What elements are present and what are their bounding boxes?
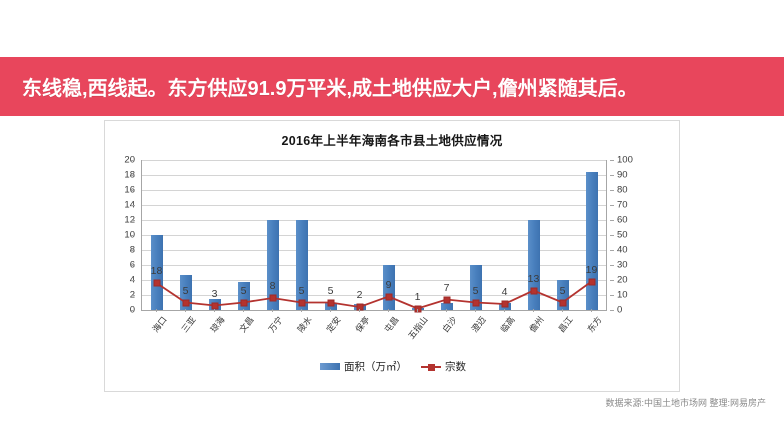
y-axis-right-tickmark: [610, 190, 614, 191]
x-axis-tickmark: [156, 309, 157, 312]
y-axis-right-tickmark: [610, 235, 614, 236]
x-axis-label: 昌江: [555, 314, 575, 335]
x-axis-tickmark: [359, 309, 360, 312]
x-axis-tickmark: [185, 309, 186, 312]
y-axis-left: 02468101214161820: [105, 160, 135, 310]
headline-banner: 东线稳,西线起。东方供应91.9万平米,成土地供应大户,儋州紧随其后。: [0, 57, 784, 116]
data-label: 2: [357, 289, 363, 301]
data-label: 13: [528, 273, 540, 285]
y-axis-right-tickmark: [610, 160, 614, 161]
plot-area: 02468101214161820 0102030405060708090100…: [105, 154, 681, 354]
legend-bar-swatch-icon: [320, 363, 340, 370]
y-axis-left-tickmark: [131, 175, 135, 176]
line-marker: [443, 296, 450, 303]
x-axis-label: 东方: [584, 314, 604, 335]
legend-item-count: 宗数: [421, 359, 466, 374]
line-marker: [298, 299, 305, 306]
y-axis-left-tickmark: [131, 220, 135, 221]
y-axis-right-tickmark: [610, 265, 614, 266]
line-marker: [385, 293, 392, 300]
data-label: 5: [560, 285, 566, 297]
x-axis-tickmark: [243, 309, 244, 312]
line-marker: [559, 299, 566, 306]
legend-label-area: 面积（万㎡）: [344, 359, 407, 374]
y-axis-left-tickmark: [131, 265, 135, 266]
line-marker: [501, 301, 508, 308]
y-axis-right-tickmark: [610, 310, 614, 311]
x-axis-label: 保亭: [352, 314, 372, 335]
x-axis-tickmark: [446, 309, 447, 312]
y-axis-right-tickmark: [610, 205, 614, 206]
line-marker: [182, 299, 189, 306]
x-axis-tickmark: [301, 309, 302, 312]
data-label: 9: [386, 279, 392, 291]
chart-title: 2016年上半年海南各市县土地供应情况: [105, 121, 679, 149]
x-axis-tickmark: [533, 309, 534, 312]
legend-label-count: 宗数: [445, 359, 466, 374]
x-axis-label: 澄迈: [468, 314, 488, 335]
chart-card: 2016年上半年海南各市县土地供应情况 02468101214161820 01…: [104, 120, 680, 392]
y-axis-left-tickmark: [131, 250, 135, 251]
x-axis-tickmark: [591, 309, 592, 312]
data-label: 5: [473, 285, 479, 297]
data-label: 5: [328, 285, 334, 297]
line-marker: [530, 287, 537, 294]
line-marker: [588, 278, 595, 285]
y-axis-right-tickmark: [610, 280, 614, 281]
y-axis-right-tickmark: [610, 295, 614, 296]
line-marker: [240, 299, 247, 306]
x-axis-label: 屯昌: [381, 314, 401, 335]
x-axis-label: 白沙: [439, 314, 459, 335]
x-axis-tickmark: [272, 309, 273, 312]
x-axis-label: 五指山: [405, 314, 430, 341]
data-label: 4: [502, 286, 508, 298]
y-axis-right-tickmark: [610, 175, 614, 176]
x-axis-label: 万宁: [265, 314, 285, 335]
x-axis-label: 临高: [497, 314, 517, 335]
plot-canvas: 1853585529175413519: [141, 160, 607, 311]
x-axis-tickmark: [504, 309, 505, 312]
source-note: 数据来源:中国土地市场网 整理:网易房产: [605, 396, 766, 409]
x-axis-tickmark: [388, 309, 389, 312]
headline-text: 东线稳,西线起。东方供应91.9万平米,成土地供应大户,儋州紧随其后。: [0, 72, 638, 101]
line-marker: [153, 280, 160, 287]
x-axis-label: 陵水: [294, 314, 314, 335]
data-label: 8: [270, 280, 276, 292]
x-axis-tickmark: [417, 309, 418, 312]
x-axis-tickmark: [330, 309, 331, 312]
line-marker: [472, 299, 479, 306]
data-label: 1: [415, 291, 421, 303]
x-axis-labels: 海口三亚琼海文昌万宁陵水定安保亭屯昌五指山白沙澄迈临高儋州昌江东方: [141, 312, 605, 358]
x-axis-label: 儋州: [526, 314, 546, 335]
y-axis-left-tickmark: [131, 310, 135, 311]
x-axis-label: 定安: [323, 314, 343, 335]
legend-item-area: 面积（万㎡）: [320, 359, 407, 374]
x-axis-tickmark: [562, 309, 563, 312]
data-label: 19: [586, 264, 598, 276]
x-axis-label: 文昌: [236, 314, 256, 335]
y-axis-right-tickmark: [610, 250, 614, 251]
data-label: 5: [299, 285, 305, 297]
y-axis-left-tickmark: [131, 235, 135, 236]
chart-legend: 面积（万㎡） 宗数: [105, 359, 681, 374]
data-label: 18: [151, 265, 163, 277]
y-axis-left-tickmark: [131, 190, 135, 191]
data-label: 7: [444, 282, 450, 294]
y-axis-left-tickmark: [131, 280, 135, 281]
x-axis-tickmark: [475, 309, 476, 312]
line-marker: [414, 305, 421, 312]
y-axis-left-tickmark: [131, 205, 135, 206]
x-axis-tickmark: [214, 309, 215, 312]
line-marker: [327, 299, 334, 306]
x-axis-label: 海口: [149, 314, 169, 335]
data-label: 5: [183, 285, 189, 297]
line-marker: [211, 302, 218, 309]
y-axis-right: 0102030405060708090100: [610, 160, 644, 310]
legend-line-swatch-icon: [421, 363, 441, 370]
y-axis-left-tickmark: [131, 160, 135, 161]
y-axis-left-tickmark: [131, 295, 135, 296]
data-label: 3: [212, 288, 218, 300]
line-marker: [356, 304, 363, 311]
x-axis-label: 三亚: [178, 314, 198, 335]
x-axis-label: 琼海: [207, 314, 227, 335]
data-label: 5: [241, 285, 247, 297]
line-marker: [269, 295, 276, 302]
y-axis-right-tickmark: [610, 220, 614, 221]
